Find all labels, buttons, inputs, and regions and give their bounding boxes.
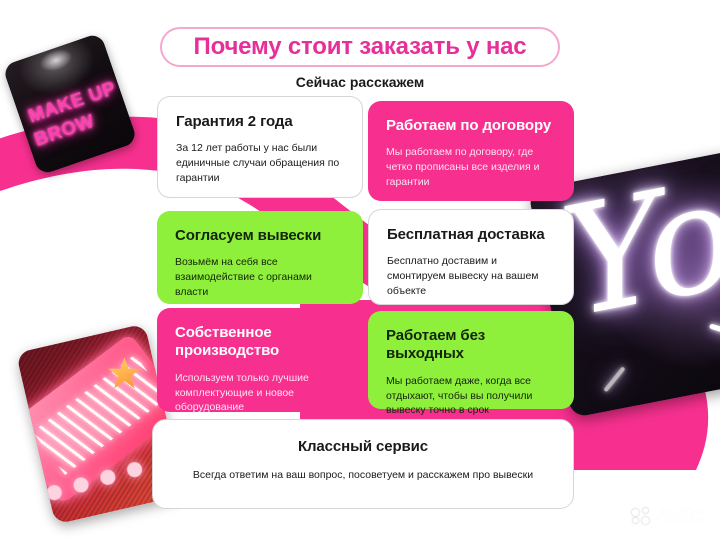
promo-banner: MAKE UP BROW You Почему стоит заказать у… [0, 0, 720, 540]
benefit-card-body: Мы работаем по договору, где четко пропи… [386, 145, 556, 190]
benefit-card-heading: Классный сервис [173, 438, 553, 456]
benefit-card-body: Мы работаем даже, когда все отдыхают, чт… [386, 374, 556, 419]
benefit-card-heading: Гарантия 2 года [176, 113, 344, 131]
benefit-card-heading: Работаем без выходных [386, 327, 556, 364]
benefit-card-heading: Согласуем вывески [175, 227, 345, 245]
benefit-card-body: Всегда ответим на ваш вопрос, посоветуем… [173, 468, 553, 484]
neon-tube-segment [603, 366, 625, 392]
avito-logo-icon [631, 507, 651, 525]
benefit-card-delivery[interactable]: Бесплатная доставка Бесплатно доставим и… [368, 209, 574, 305]
benefit-card-body: Используем только лучшие комплектующие и… [175, 371, 345, 416]
benefit-card-heading: Работаем по договору [386, 117, 556, 135]
benefit-card-approval[interactable]: Согласуем вывески Возьмём на себя все вз… [157, 211, 363, 304]
benefit-card-heading: Бесплатная доставка [387, 226, 555, 244]
benefit-card-body: Бесплатно доставим и смонтируем вывеску … [387, 254, 555, 299]
benefit-card-body: За 12 лет работы у нас были единичные сл… [176, 141, 344, 186]
benefit-card-heading: Собственное производство [175, 324, 345, 361]
page-subtitle: Сейчас расскажем [0, 74, 720, 90]
you-neon-script: You [553, 150, 720, 339]
neon-tube-segment [709, 323, 720, 341]
benefit-card-no-days-off[interactable]: Работаем без выходных Мы работаем даже, … [368, 311, 574, 409]
makeup-neon-photo-card: MAKE UP BROW [2, 32, 138, 176]
benefit-card-own-production[interactable]: Собственное производство Используем толь… [157, 308, 363, 412]
avito-watermark: Avito [631, 504, 704, 528]
benefit-card-guarantee[interactable]: Гарантия 2 года За 12 лет работы у нас б… [157, 96, 363, 198]
page-title-pill: Почему стоит заказать у нас [160, 27, 560, 67]
benefit-card-body: Возьмём на себя все взаимодействие с орг… [175, 255, 345, 300]
photo-glint [37, 45, 76, 75]
benefit-card-service[interactable]: Классный сервис Всегда ответим на ваш во… [152, 419, 574, 509]
avito-watermark-text: Avito [655, 504, 704, 528]
page-title: Почему стоит заказать у нас [194, 33, 527, 61]
benefit-card-contract[interactable]: Работаем по договору Мы работаем по дого… [368, 101, 574, 201]
